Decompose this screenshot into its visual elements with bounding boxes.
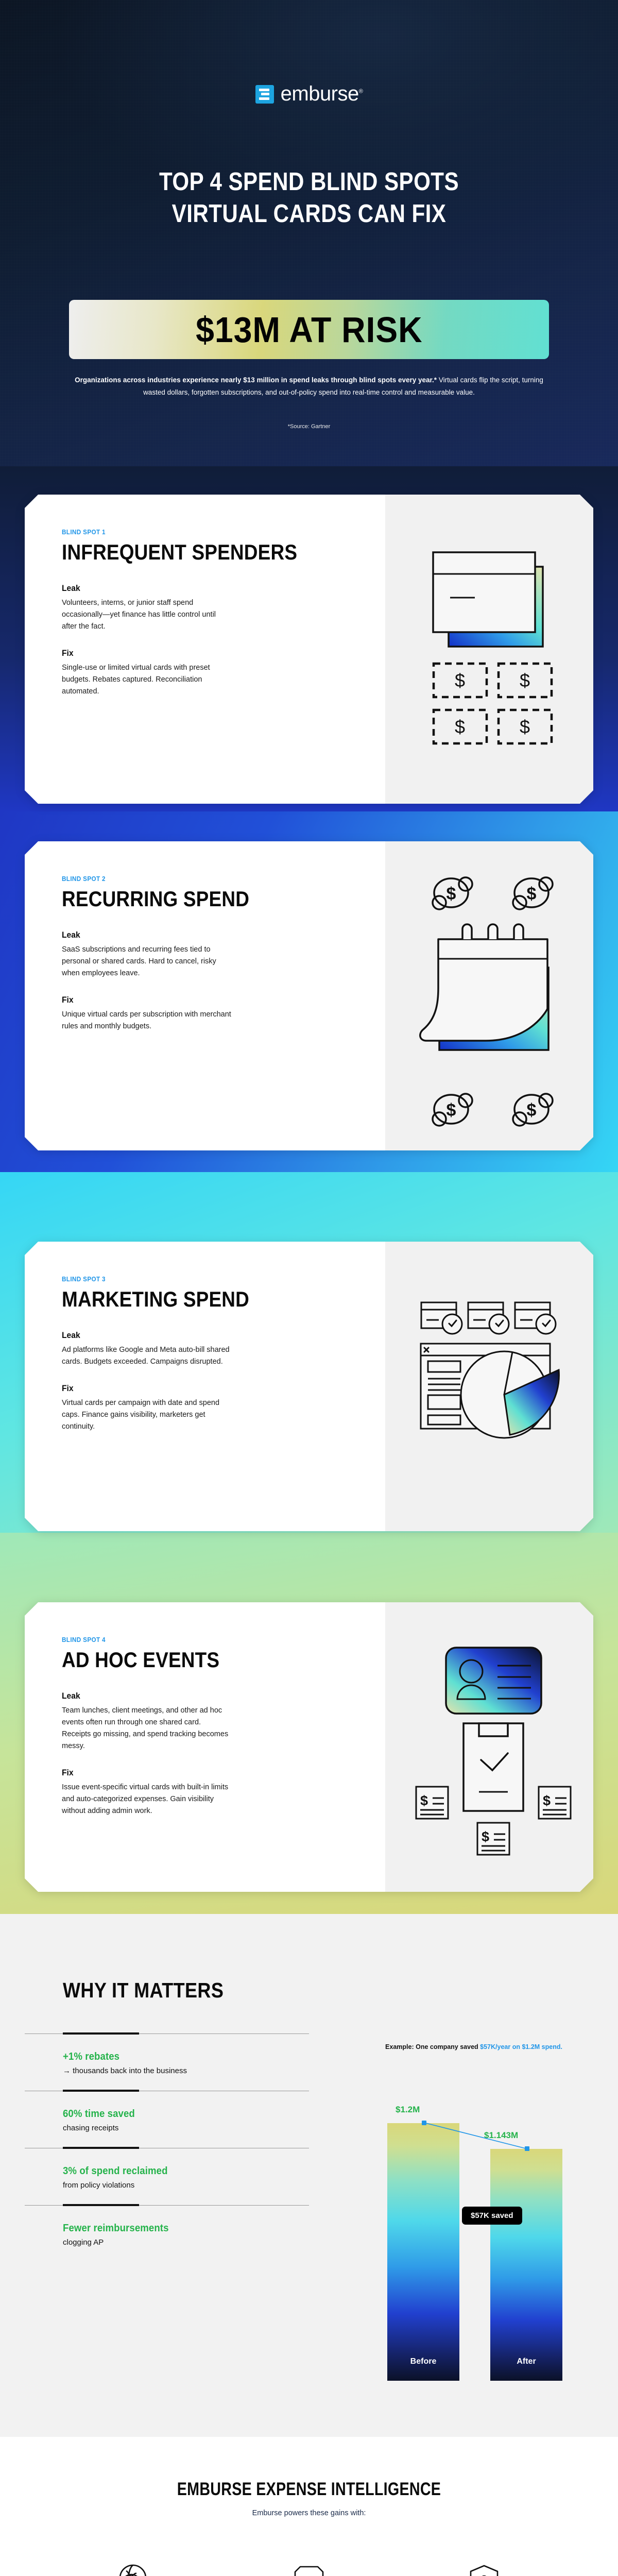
svg-text:$: $ xyxy=(527,1100,537,1120)
fix-label: Fix xyxy=(62,995,325,1005)
svg-text:$: $ xyxy=(447,884,456,904)
eei-columns: Unified visibility across AP, T&E, and p… xyxy=(57,2561,561,2576)
why-list-item: +1% rebates → thousands back into the bu… xyxy=(25,2033,334,2091)
svg-text:$: $ xyxy=(420,1793,428,1808)
leak-label: Leak xyxy=(62,1330,325,1341)
why-note: → thousands back into the business xyxy=(63,2066,334,2075)
card-title: INFREQUENT SPENDERS xyxy=(62,540,314,564)
chart-plot-area: Before After $1.2M $1.143M $57K saved xyxy=(381,2084,587,2381)
hero-section: emburse® TOP 4 SPEND BLIND SPOTS VIRTUAL… xyxy=(0,0,618,466)
fix-text: Unique virtual cards per subscription wi… xyxy=(62,1009,232,1032)
shield-lock-icon xyxy=(407,2561,561,2576)
svg-text:$: $ xyxy=(482,1829,489,1844)
svg-text:$: $ xyxy=(543,1793,551,1808)
why-stat: Fewer reimbursements xyxy=(63,2223,315,2234)
leak-text: Team lunches, client meetings, and other… xyxy=(62,1705,232,1752)
svg-text:$: $ xyxy=(455,670,465,691)
card-text-panel: BLIND SPOT 3 MARKETING SPEND Leak Ad pla… xyxy=(25,1242,385,1531)
fix-label: Fix xyxy=(62,1768,325,1778)
hero-subtitle: Organizations across industries experien… xyxy=(72,374,546,398)
why-list-item: 3% of spend reclaimed from policy violat… xyxy=(25,2148,334,2205)
leak-label: Leak xyxy=(62,930,325,940)
leak-text: Volunteers, interns, or junior staff spe… xyxy=(62,597,232,633)
card-illustration-id-clipboard-receipts: $$$ xyxy=(385,1602,593,1892)
blind-spot-card-2: BLIND SPOT 2 RECURRING SPEND Leak SaaS s… xyxy=(25,841,593,1150)
risk-banner: $13M AT RISK xyxy=(69,300,549,359)
card-kicker: BLIND SPOT 1 xyxy=(62,528,319,536)
hero-subtitle-bold: Organizations across industries experien… xyxy=(75,376,437,384)
blind-spot-card-3: BLIND SPOT 3 MARKETING SPEND Leak Ad pla… xyxy=(25,1242,593,1531)
divider xyxy=(25,2033,309,2034)
svg-text:$: $ xyxy=(520,716,530,737)
eei-heading: EMBURSE EXPENSE INTELLIGENCE xyxy=(56,2479,562,2500)
divider xyxy=(25,2148,309,2148)
leak-text: SaaS subscriptions and recurring fees ti… xyxy=(62,944,232,979)
blind-spot-card-4: BLIND SPOT 4 AD HOC EVENTS Leak Team lun… xyxy=(25,1602,593,1892)
bar-after xyxy=(490,2149,562,2381)
before-after-bar-chart: Example: One company saved $57K/year on … xyxy=(381,2050,587,2380)
emburse-logo-icon xyxy=(255,85,274,104)
leak-label: Leak xyxy=(62,1691,325,1701)
fix-label: Fix xyxy=(62,1383,325,1394)
why-list-item: Fewer reimbursements clogging AP xyxy=(25,2205,334,2262)
bar-value-before: $1.2M xyxy=(396,2105,420,2115)
card-illustration-calendar: $$ $$ xyxy=(385,841,593,1150)
eei-column: Unified visibility across AP, T&E, and p… xyxy=(57,2561,211,2576)
bar-label-before: Before xyxy=(387,2357,459,2366)
card-kicker: BLIND SPOT 3 xyxy=(62,1275,319,1283)
bar-before xyxy=(387,2123,459,2381)
registered-mark: ® xyxy=(359,89,363,95)
why-stat: 60% time saved xyxy=(63,2108,315,2120)
hero-source-note: *Source: Gartner xyxy=(0,423,618,430)
risk-banner-value: $13M AT RISK xyxy=(196,312,422,348)
chart-caption-prefix: Example: One company saved xyxy=(385,2043,480,2050)
why-list-item: 60% time saved chasing receipts xyxy=(25,2091,334,2148)
brand-logo: emburse® xyxy=(0,82,618,106)
card-text-panel: BLIND SPOT 4 AD HOC EVENTS Leak Team lun… xyxy=(25,1602,385,1892)
eei-column: Compliance that feels effortless xyxy=(407,2561,561,2576)
why-note: chasing receipts xyxy=(63,2124,334,2132)
connector-line xyxy=(424,2123,527,2149)
card-text-panel: BLIND SPOT 1 INFREQUENT SPENDERS Leak Vo… xyxy=(25,495,385,804)
svg-text:$: $ xyxy=(455,716,465,737)
svg-text:$: $ xyxy=(520,670,530,691)
card-title: MARKETING SPEND xyxy=(62,1287,314,1311)
why-it-matters-heading: WHY IT MATTERS xyxy=(63,1978,224,2003)
page-title: TOP 4 SPEND BLIND SPOTS VIRTUAL CARDS CA… xyxy=(43,166,575,230)
card-kicker: BLIND SPOT 2 xyxy=(62,875,319,883)
brand-wordmark: emburse® xyxy=(281,82,363,106)
card-kicker: BLIND SPOT 4 xyxy=(62,1636,319,1643)
divider xyxy=(25,2205,309,2206)
card-illustration-credit-card: $$ $$ xyxy=(385,495,593,804)
chart-caption: Example: One company saved $57K/year on … xyxy=(360,2042,587,2052)
globe-magnifier-icon xyxy=(57,2561,211,2576)
ai-chip-icon: AI xyxy=(232,2561,386,2576)
hero-title-line-1: TOP 4 SPEND BLIND SPOTS xyxy=(43,166,575,198)
infographic-page: emburse® TOP 4 SPEND BLIND SPOTS VIRTUAL… xyxy=(0,0,618,2576)
expense-intelligence-section: EMBURSE EXPENSE INTELLIGENCE Emburse pow… xyxy=(0,2437,618,2576)
eei-subheading: Emburse powers these gains with: xyxy=(0,2509,618,2517)
why-stat: +1% rebates xyxy=(63,2051,315,2063)
fix-text: Issue event-specific virtual cards with … xyxy=(62,1782,232,1817)
card-title: RECURRING SPEND xyxy=(62,887,314,910)
blind-spot-card-1: BLIND SPOT 1 INFREQUENT SPENDERS Leak Vo… xyxy=(25,495,593,804)
card-title: AD HOC EVENTS xyxy=(62,1648,314,1671)
svg-text:$: $ xyxy=(527,884,537,904)
divider xyxy=(25,2091,309,2091)
why-it-matters-section: WHY IT MATTERS +1% rebates → thousands b… xyxy=(0,1914,618,2437)
eei-column: AI AI-powered control before spend leave… xyxy=(232,2561,386,2576)
fix-text: Virtual cards per campaign with date and… xyxy=(62,1397,232,1433)
chart-caption-highlight: $57K/year on $1.2M spend. xyxy=(480,2043,562,2050)
fix-label: Fix xyxy=(62,648,325,658)
svg-text:$: $ xyxy=(447,1100,456,1120)
hero-title-line-2: VIRTUAL CARDS CAN FIX xyxy=(43,198,575,230)
why-note: from policy violations xyxy=(63,2181,334,2190)
why-it-matters-list: +1% rebates → thousands back into the bu… xyxy=(25,2033,334,2262)
fix-text: Single-use or limited virtual cards with… xyxy=(62,662,232,698)
leak-label: Leak xyxy=(62,583,325,594)
leak-text: Ad platforms like Google and Meta auto-b… xyxy=(62,1344,232,1368)
savings-annotation-badge: $57K saved xyxy=(462,2207,522,2225)
why-note: clogging AP xyxy=(63,2238,334,2247)
bar-label-after: After xyxy=(490,2357,562,2366)
why-stat: 3% of spend reclaimed xyxy=(63,2165,315,2177)
card-illustration-dashboard-pie xyxy=(385,1242,593,1531)
card-text-panel: BLIND SPOT 2 RECURRING SPEND Leak SaaS s… xyxy=(25,841,385,1150)
